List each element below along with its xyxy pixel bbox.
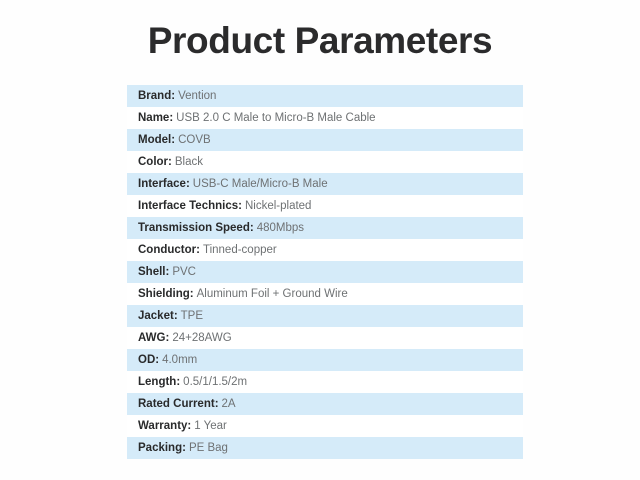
spec-label: Transmission Speed	[138, 222, 250, 234]
spec-row: Warranty:1 Year	[127, 415, 523, 437]
spec-value: Black	[172, 156, 203, 168]
spec-label: Warranty	[138, 420, 187, 432]
spec-row: Packing:PE Bag	[127, 437, 523, 459]
spec-row: AWG:24+28AWG	[127, 327, 523, 349]
spec-label: Packing	[138, 442, 182, 454]
spec-label: Length	[138, 376, 176, 388]
spec-row: Brand:Vention	[127, 85, 523, 107]
spec-value: PE Bag	[186, 442, 228, 454]
spec-value: Vention	[175, 90, 216, 102]
spec-value: Tinned-copper	[200, 244, 277, 256]
spec-row: Interface Technics:Nickel-plated	[127, 195, 523, 217]
spec-row: Color:Black	[127, 151, 523, 173]
spec-label: Name	[138, 112, 169, 124]
spec-separator: :	[215, 398, 219, 410]
spec-label: Brand	[138, 90, 171, 102]
spec-row: Length:0.5/1/1.5/2m	[127, 371, 523, 393]
spec-value: USB 2.0 C Male to Micro-B Male Cable	[173, 112, 375, 124]
spec-value: 480Mbps	[254, 222, 304, 234]
spec-value: USB-C Male/Micro-B Male	[190, 178, 328, 190]
spec-label: Shell	[138, 266, 165, 278]
spec-label: Interface Technics	[138, 200, 238, 212]
spec-value: 1 Year	[191, 420, 227, 432]
spec-label: Interface	[138, 178, 186, 190]
spec-row: Model:COVB	[127, 129, 523, 151]
spec-value: PVC	[169, 266, 196, 278]
spec-label: Conductor	[138, 244, 196, 256]
spec-label: OD	[138, 354, 155, 366]
specification-table: Brand:VentionName:USB 2.0 C Male to Micr…	[127, 85, 523, 459]
spec-label: Shielding	[138, 288, 190, 300]
spec-row: Name:USB 2.0 C Male to Micro-B Male Cabl…	[127, 107, 523, 129]
spec-value: Aluminum Foil + Ground Wire	[194, 288, 348, 300]
spec-label: Model	[138, 134, 171, 146]
spec-row: Interface:USB-C Male/Micro-B Male	[127, 173, 523, 195]
spec-row: Shell:PVC	[127, 261, 523, 283]
page-title: Product Parameters	[0, 19, 640, 63]
spec-value: 2A	[219, 398, 236, 410]
spec-row: Transmission Speed:480Mbps	[127, 217, 523, 239]
spec-label: Jacket	[138, 310, 174, 322]
spec-label: Rated Current	[138, 398, 215, 410]
spec-row: OD:4.0mm	[127, 349, 523, 371]
product-parameters-page: Product Parameters Brand:VentionName:USB…	[0, 0, 640, 480]
spec-label: AWG	[138, 332, 165, 344]
spec-label: Color	[138, 156, 168, 168]
spec-row: Shielding:Aluminum Foil + Ground Wire	[127, 283, 523, 305]
spec-value: 4.0mm	[159, 354, 197, 366]
spec-value: Nickel-plated	[242, 200, 311, 212]
spec-row: Conductor:Tinned-copper	[127, 239, 523, 261]
spec-value: 24+28AWG	[169, 332, 231, 344]
spec-value: COVB	[175, 134, 211, 146]
spec-row: Jacket:TPE	[127, 305, 523, 327]
spec-value: TPE	[178, 310, 203, 322]
spec-value: 0.5/1/1.5/2m	[180, 376, 247, 388]
spec-row: Rated Current:2A	[127, 393, 523, 415]
